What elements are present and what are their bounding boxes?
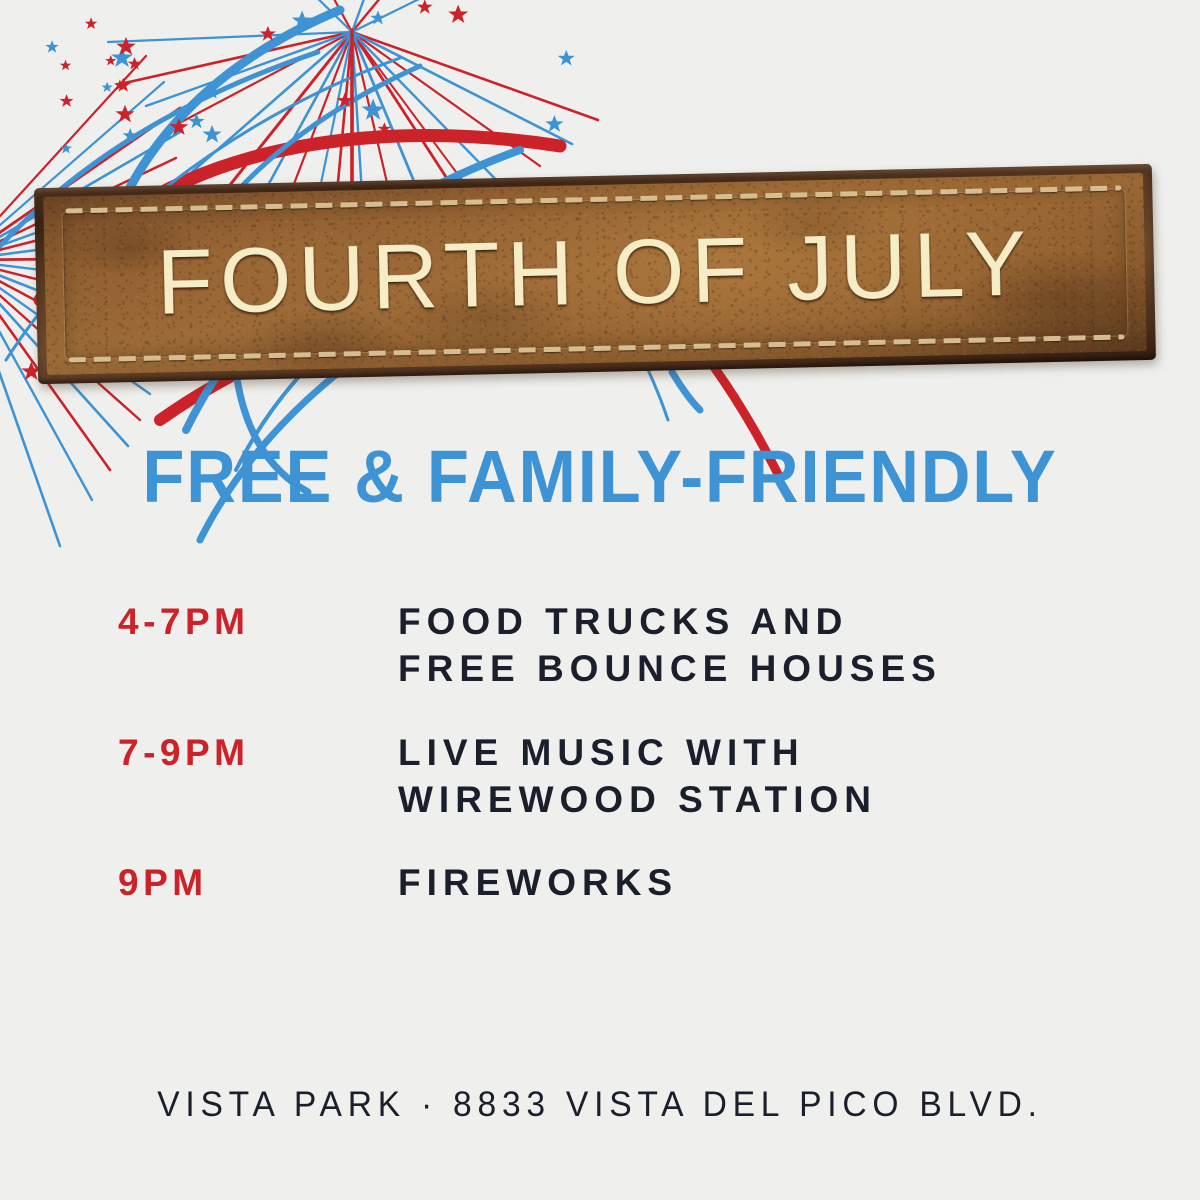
schedule-row: 7-9PM LIVE MUSIC WITH WIREWOOD STATION — [118, 729, 1098, 824]
poster-canvas: FOURTH OF JULY FREE & FAMILY-FRIENDLY 4-… — [0, 0, 1200, 1200]
schedule-description-line: FOOD TRUCKS AND — [398, 598, 1098, 645]
schedule-row: 9PM FIREWORKS — [118, 859, 1098, 906]
event-schedule-list: 4-7PM FOOD TRUCKS AND FREE BOUNCE HOUSES… — [118, 598, 1098, 943]
schedule-description: FIREWORKS — [398, 859, 1098, 906]
schedule-row: 4-7PM FOOD TRUCKS AND FREE BOUNCE HOUSES — [118, 598, 1098, 693]
schedule-time: 9PM — [118, 859, 398, 906]
schedule-description-line: WIREWOOD STATION — [398, 776, 1098, 823]
schedule-description: FOOD TRUCKS AND FREE BOUNCE HOUSES — [398, 598, 1098, 693]
venue-address: VISTA PARK · 8833 VISTA DEL PICO BLVD. — [24, 1087, 1176, 1122]
schedule-description: LIVE MUSIC WITH WIREWOOD STATION — [398, 729, 1098, 824]
schedule-description-line: FIREWORKS — [398, 859, 1098, 906]
schedule-time: 7-9PM — [118, 729, 398, 776]
schedule-description-line: LIVE MUSIC WITH — [398, 729, 1098, 776]
schedule-description-line: FREE BOUNCE HOUSES — [398, 645, 1098, 692]
poster-subtitle: FREE & FAMILY-FRIENDLY — [42, 440, 1158, 514]
leather-plaque-banner: FOURTH OF JULY — [34, 164, 1156, 384]
poster-title: FOURTH OF JULY — [34, 164, 1156, 384]
schedule-time: 4-7PM — [118, 598, 398, 645]
